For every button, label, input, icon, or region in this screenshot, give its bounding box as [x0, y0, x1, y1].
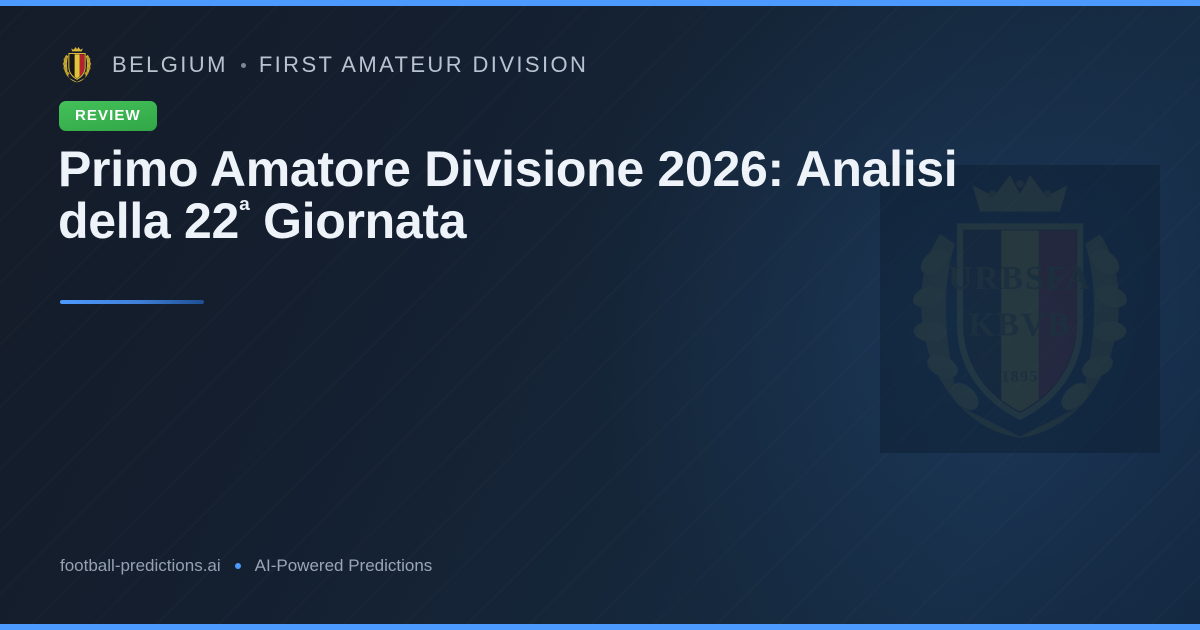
social-share-card: BELGIUM FIRST AMATEUR DIVISION REVIEW Pr…: [0, 0, 1200, 630]
bottom-accent-bar: [0, 624, 1200, 630]
title-divider: [60, 300, 204, 304]
crest-year: 1895: [1001, 368, 1039, 386]
belgium-fa-crest-icon: [60, 46, 94, 84]
footer-separator-dot: [235, 563, 241, 569]
page-title-part-2: Giornata: [250, 193, 467, 249]
footer-site: football-predictions.ai: [60, 556, 221, 576]
breadcrumb: BELGIUM FIRST AMATEUR DIVISION: [60, 46, 588, 84]
crest-text-top: URBSFA: [948, 260, 1092, 297]
page-title-ordinal: ª: [239, 195, 249, 227]
top-accent-bar: [0, 0, 1200, 6]
page-title: Primo Amatore Divisione 2026: Analisi de…: [58, 143, 1068, 247]
crest-text-bottom: KBVB: [968, 306, 1071, 343]
footer: football-predictions.ai AI-Powered Predi…: [60, 556, 432, 576]
footer-tagline: AI-Powered Predictions: [255, 556, 433, 576]
breadcrumb-country: BELGIUM: [112, 52, 228, 78]
breadcrumb-competition: FIRST AMATEUR DIVISION: [259, 52, 588, 78]
status-badge: REVIEW: [59, 101, 157, 131]
page-title-part-1: Primo Amatore Divisione 2026: Analisi de…: [58, 141, 957, 249]
breadcrumb-text: BELGIUM FIRST AMATEUR DIVISION: [112, 52, 588, 78]
breadcrumb-separator-dot: [241, 63, 246, 68]
